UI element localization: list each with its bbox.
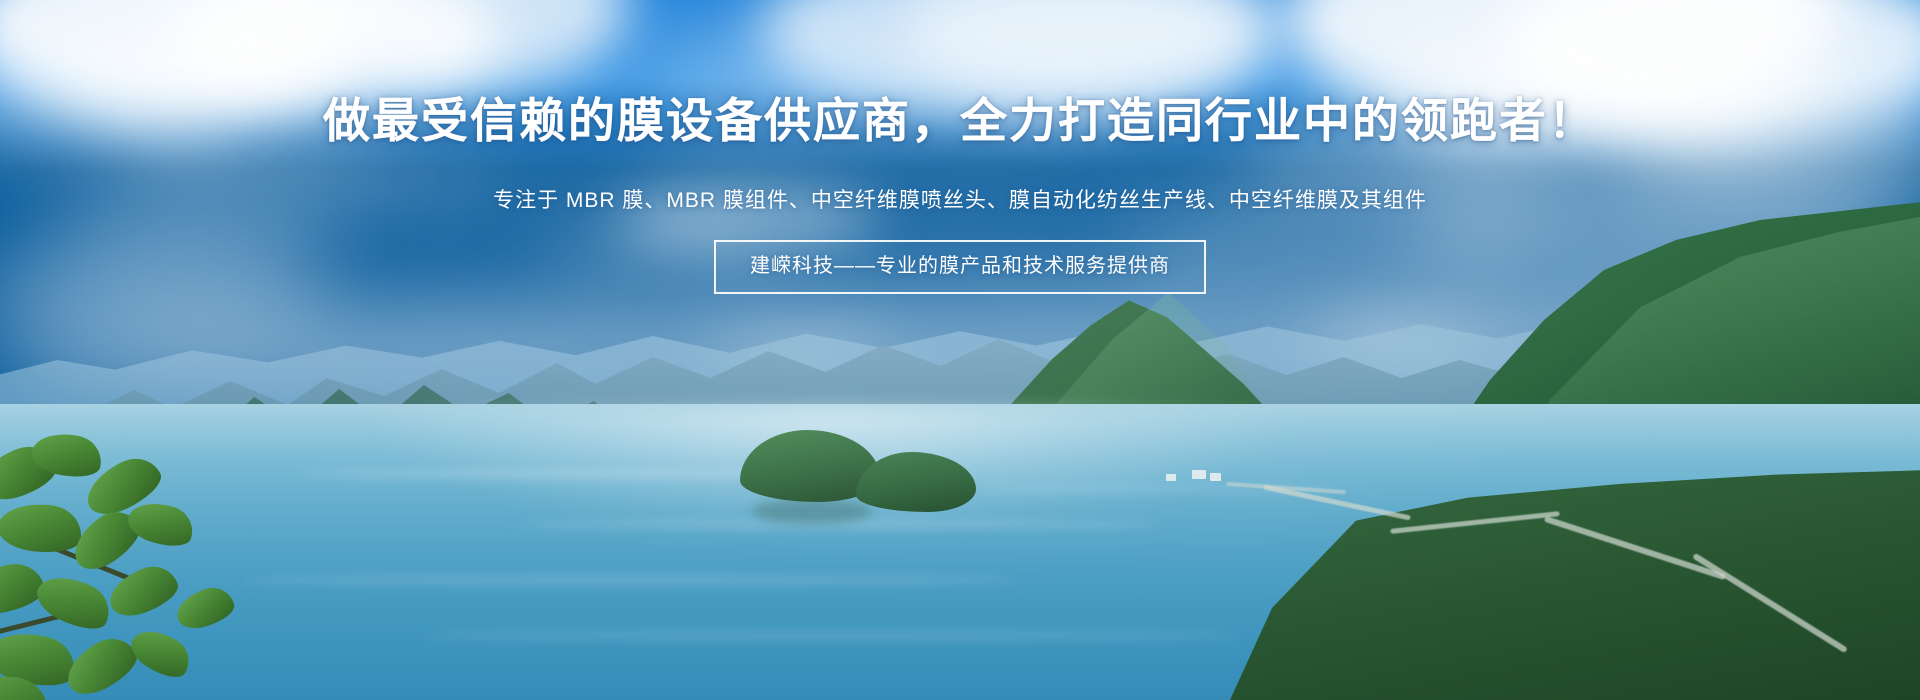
hero-banner: 做最受信赖的膜设备供应商，全力打造同行业中的领跑者！ 专注于 MBR 膜、MBR… (0, 0, 1920, 700)
hero-tagline-box: 建嵘科技——专业的膜产品和技术服务提供商 (714, 240, 1206, 294)
hero-subtitle: 专注于 MBR 膜、MBR 膜组件、中空纤维膜喷丝头、膜自动化纺丝生产线、中空纤… (0, 186, 1920, 216)
hero-content: 做最受信赖的膜设备供应商，全力打造同行业中的领跑者！ 专注于 MBR 膜、MBR… (0, 0, 1920, 700)
hero-tagline-wrap: 建嵘科技——专业的膜产品和技术服务提供商 (0, 240, 1920, 294)
hero-headline: 做最受信赖的膜设备供应商，全力打造同行业中的领跑者！ (0, 96, 1920, 146)
